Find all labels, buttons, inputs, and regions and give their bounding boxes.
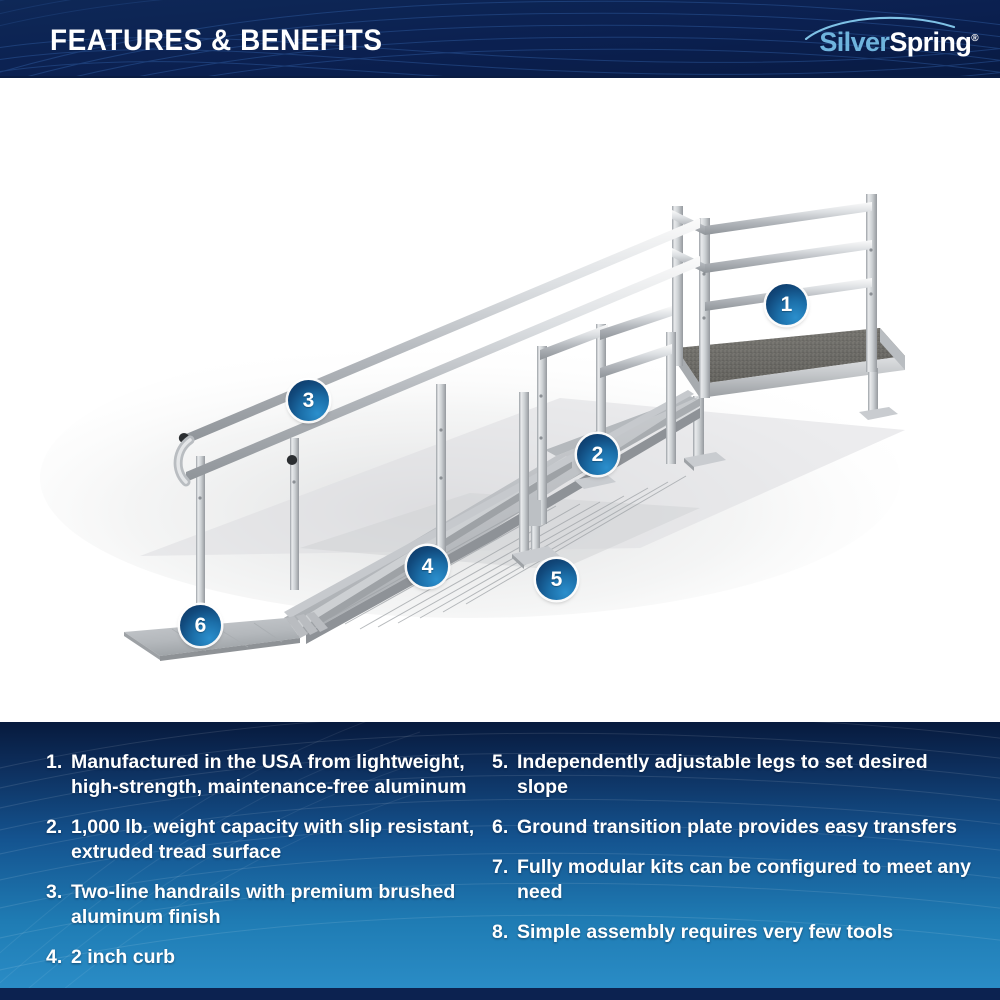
callout-badge-1[interactable]: 1: [766, 284, 807, 325]
features-column-left: 1. Manufactured in the USA from lightwei…: [46, 750, 476, 985]
feature-item-4: 4. 2 inch curb: [46, 945, 476, 970]
feature-item-4-number: 4.: [46, 945, 71, 970]
callout-badge-6[interactable]: 6: [180, 605, 221, 646]
callout-badge-5[interactable]: 5: [536, 559, 577, 600]
feature-item-8: 8. Simple assembly requires very few too…: [492, 920, 972, 945]
feature-item-2: 2. 1,000 lb. weight capacity with slip r…: [46, 815, 476, 865]
page-title: FEATURES & BENEFITS: [50, 24, 383, 58]
feature-item-7: 7. Fully modular kits can be configured …: [492, 855, 972, 905]
feature-item-3-text: Two-line handrails with premium brushed …: [71, 880, 476, 930]
feature-item-7-text: Fully modular kits can be configured to …: [517, 855, 972, 905]
feature-item-6-text: Ground transition plate provides easy tr…: [517, 815, 972, 840]
feature-item-5-text: Independently adjustable legs to set des…: [517, 750, 972, 800]
callout-badge-4[interactable]: 4: [407, 546, 448, 587]
feature-item-8-number: 8.: [492, 920, 517, 945]
feature-item-6-number: 6.: [492, 815, 517, 840]
feature-item-5-number: 5.: [492, 750, 517, 775]
logo-wordmark: SilverSpring®: [788, 27, 978, 58]
feature-item-1-text: Manufactured in the USA from lightweight…: [71, 750, 476, 800]
header-banner: FEATURES & BENEFITS SilverSpring®: [0, 0, 1000, 78]
features-column-right: 5. Independently adjustable legs to set …: [492, 750, 972, 960]
logo-registered-mark: ®: [971, 33, 978, 44]
feature-item-2-text: 1,000 lb. weight capacity with slip resi…: [71, 815, 476, 865]
feature-item-1-number: 1.: [46, 750, 71, 775]
feature-item-3: 3. Two-line handrails with premium brush…: [46, 880, 476, 930]
product-image-area: 1 2 3 4 5 6: [0, 78, 1000, 722]
feature-item-7-number: 7.: [492, 855, 517, 880]
feature-item-8-text: Simple assembly requires very few tools: [517, 920, 972, 945]
logo-word-spring: Spring: [889, 27, 971, 57]
wheelchair-ramp-illustration: [0, 78, 1000, 722]
feature-item-5: 5. Independently adjustable legs to set …: [492, 750, 972, 800]
feature-item-3-number: 3.: [46, 880, 71, 905]
feature-item-4-text: 2 inch curb: [71, 945, 476, 970]
features-list-panel: 1. Manufactured in the USA from lightwei…: [0, 722, 1000, 1000]
callout-badge-2[interactable]: 2: [577, 434, 618, 475]
infographic-page: FEATURES & BENEFITS SilverSpring®: [0, 0, 1000, 1000]
logo-word-silver: Silver: [819, 27, 889, 57]
callout-badge-3[interactable]: 3: [288, 380, 329, 421]
feature-item-2-number: 2.: [46, 815, 71, 840]
brand-logo: SilverSpring®: [788, 14, 978, 62]
feature-item-1: 1. Manufactured in the USA from lightwei…: [46, 750, 476, 800]
feature-item-6: 6. Ground transition plate provides easy…: [492, 815, 972, 840]
footer-bottom-edge: [0, 988, 1000, 1000]
